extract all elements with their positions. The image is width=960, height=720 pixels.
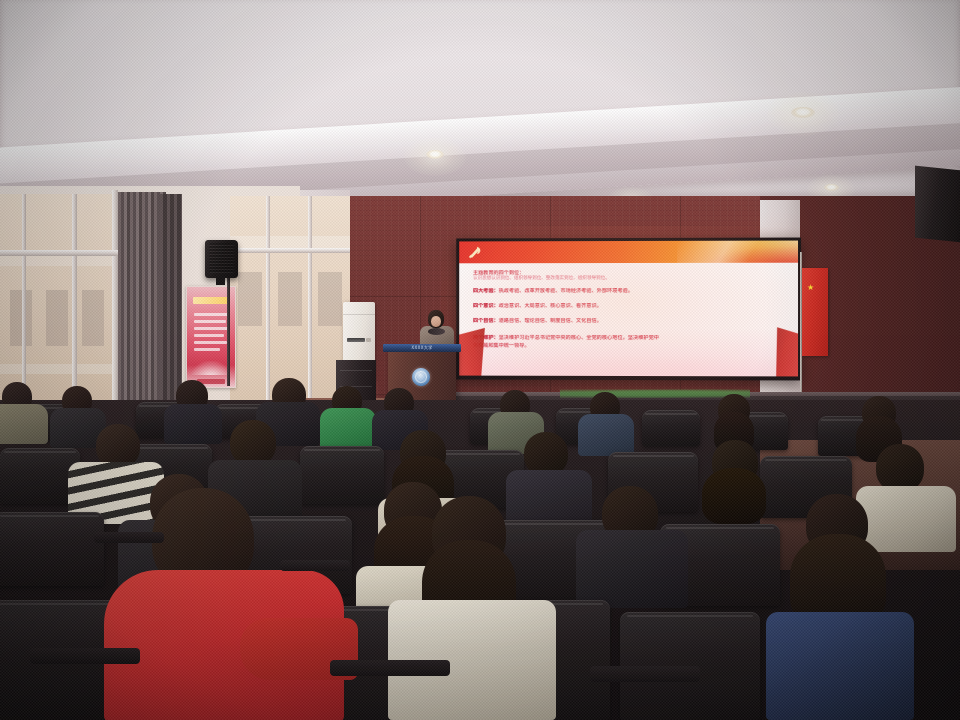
banner-title-bar [193, 297, 229, 304]
slide-line-5: 两个维护：坚决维护习近平总书记党中央的核心、全党的核心地位，坚决维护党中 [473, 335, 790, 342]
person-body [164, 404, 222, 444]
banner-text-line [194, 320, 226, 323]
speaker-grill [209, 243, 234, 273]
podium-banner-text: XXXX大学 [383, 345, 461, 351]
green-potted-plants-row [560, 388, 750, 398]
cabinet-shelf-line [340, 370, 372, 371]
slide-header-banner [459, 241, 798, 264]
projection-slide: 主题教育的四个到位： 认识思想认识到位、组织领导到位、整改落实到位、组织领导到位… [459, 241, 798, 377]
building-window [278, 272, 302, 326]
seat-armrest [330, 660, 450, 676]
corner-speaker-right [915, 166, 960, 243]
window-mullion [308, 196, 312, 424]
slide-body: 主题教育的四个到位： 认识思想认识到位、组织领导到位、整改落实到位、组织领导到位… [459, 263, 798, 377]
person-long-hair [702, 468, 766, 524]
banner-wave-graphic [191, 361, 231, 375]
led-display-screen[interactable]: 主题教育的四个到位： 认识思想认识到位、组织领导到位、整改落实到位、组织领导到位… [456, 238, 801, 381]
seat-armrest [30, 648, 140, 664]
seat-armrest [590, 666, 700, 682]
ac-vent [347, 338, 365, 342]
seat[interactable] [0, 512, 104, 586]
auditorium-photo-scene: 主题教育的四个到位： 认识思想认识到位、组织领导到位、整改落实到位、组织领导到位… [0, 0, 960, 720]
building-window [46, 290, 68, 346]
speaker-bracket [216, 277, 225, 285]
seat[interactable] [642, 410, 700, 446]
building-facade-band [0, 364, 116, 374]
banner-text-line [194, 341, 227, 344]
window-mullion [266, 196, 270, 424]
ceiling-speaker-left [205, 240, 238, 278]
banner-text-line [194, 313, 228, 316]
banner-text-line [194, 334, 224, 337]
building-window [10, 290, 32, 346]
slide-line-4: 四个自信：道路自信、理论自信、制度自信、文化自信。 [473, 318, 790, 325]
window-transom [230, 248, 350, 253]
ac-display-panel [366, 338, 371, 342]
person-body [320, 408, 376, 450]
slide-line-1: 认识思想认识到位、组织领导到位、整改落实到位、组织领导到位。 [473, 276, 610, 282]
speaker-mount-pole [227, 278, 230, 386]
slide-line-2-content: 执政考验、改革开放考验、市场经济考验、外部环境考验。 [499, 288, 633, 294]
slide-line-3-content: 政治意识、大局意识、核心意识、看齐意识。 [499, 303, 602, 309]
chinese-national-flag: ★ [802, 268, 828, 356]
header-swoosh-graphic [677, 241, 798, 263]
building-window [318, 272, 342, 326]
slide-line-4-content: 道路自信、理论自信、制度自信、文化自信。 [499, 318, 602, 324]
person-head [876, 444, 924, 492]
person-body [576, 530, 688, 608]
recessed-ceiling-downlight [824, 184, 839, 191]
seat-armrest [280, 560, 350, 571]
presenter-face [431, 316, 441, 327]
person-body [0, 404, 48, 444]
slide-line-3: 四个意识：政治意识、大局意识、核心意识、看齐意识。 [473, 303, 790, 310]
presenter-collar [428, 328, 445, 335]
person-body [506, 470, 592, 526]
building-window [238, 272, 262, 326]
person-body [578, 414, 634, 456]
seat[interactable] [300, 446, 384, 504]
slide-line-6: 央权威和集中统一领导。 [473, 343, 790, 350]
slide-line-2: 四大考验：执政考验、改革开放考验、市场经济考验、外部环境考验。 [473, 288, 790, 295]
cpc-hammer-sickle-emblem [467, 244, 483, 260]
recessed-ceiling-downlight [791, 107, 815, 118]
ac-panel-seam [343, 314, 375, 315]
window-transom [0, 250, 118, 256]
person-body [766, 612, 914, 720]
seal-ring [415, 371, 427, 383]
banner-text-line [194, 348, 220, 351]
recessed-ceiling-downlight [426, 150, 444, 159]
university-seal-emblem [412, 368, 430, 386]
podium-name-banner: XXXX大学 [383, 344, 461, 352]
flag-star-icon: ★ [807, 284, 814, 291]
slide-line-4-label: 四个自信： [473, 318, 499, 324]
slide-red-flag-right [774, 324, 798, 376]
slide-red-flag-left [459, 328, 485, 376]
person-body [856, 486, 956, 552]
slide-line-3-label: 四个意识： [473, 303, 499, 309]
slide-line-2-label: 四大考验： [473, 288, 499, 294]
banner-text-line [194, 327, 228, 330]
seat-armrest [94, 532, 164, 543]
slide-line-5-content: 坚决维护习近平总书记党中央的核心、全党的核心地位，坚决维护党中 [499, 335, 659, 341]
building-window [82, 290, 104, 346]
